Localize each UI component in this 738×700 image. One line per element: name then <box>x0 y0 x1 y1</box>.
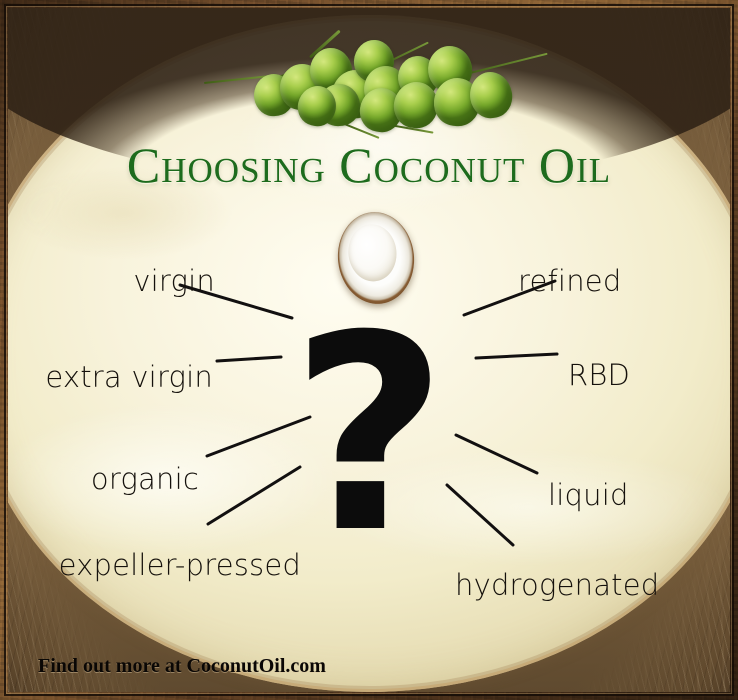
label-refined: refined <box>518 264 621 298</box>
label-extra-virgin: extra virgin <box>45 360 213 394</box>
footer-attribution: Find out more at CoconutOil.com <box>38 655 326 678</box>
green-coconut-cluster-image <box>214 26 544 136</box>
label-hydrogenated: hydrogenated <box>455 568 659 602</box>
label-liquid: liquid <box>548 478 629 512</box>
label-organic: organic <box>91 462 199 496</box>
coconut-cross-section-photo: Choosing Coconut Oil ? virginextra virgi… <box>8 8 730 692</box>
question-mark-symbol: ? <box>8 300 730 570</box>
label-expeller-pressed: expeller-pressed <box>59 548 301 582</box>
poster-infographic: Choosing Coconut Oil ? virginextra virgi… <box>0 0 738 700</box>
page-title: Choosing Coconut Oil <box>8 136 730 194</box>
label-virgin: virgin <box>133 264 215 298</box>
label-rbd: RBD <box>568 358 630 392</box>
coconut-stem <box>462 53 548 76</box>
